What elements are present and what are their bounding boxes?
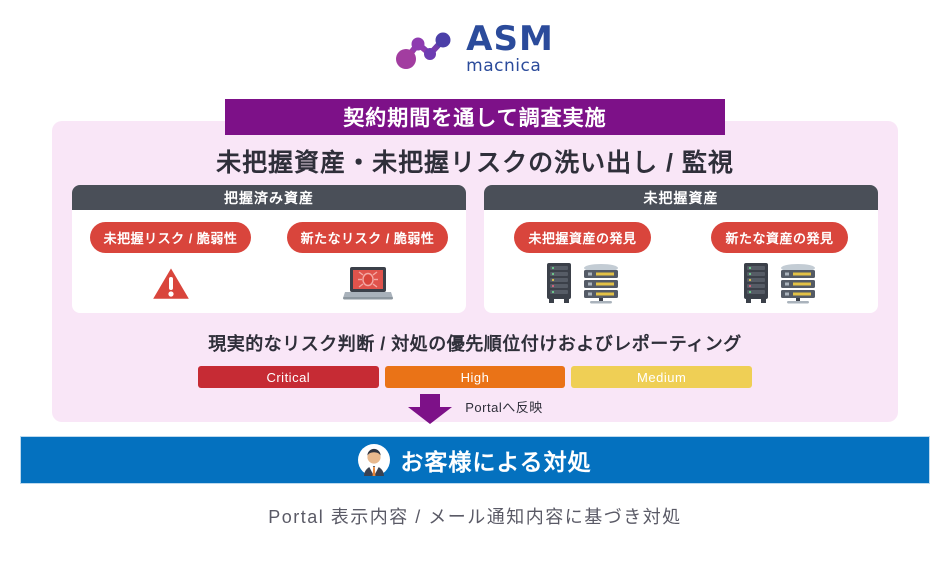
card-unknown-assets: 未把握資産 未把握資産の発見 [484, 185, 878, 313]
risk-prioritization-text: 現実的なリスク判断 / 対処の優先順位付けおよびレポーティング [0, 330, 950, 356]
card-unknown-assets-title: 未把握資産 [644, 188, 719, 208]
server-stack-icon [581, 262, 621, 304]
card-known-assets: 把握済み資産 未把握リスク / 脆弱性 新たなリスク / 脆弱性 [72, 185, 466, 313]
warning-triangle-icon-slot [149, 253, 193, 313]
asset-cards-row: 把握済み資産 未把握リスク / 脆弱性 新たなリスク / 脆弱性 [72, 185, 878, 313]
molecule-icon [396, 28, 456, 70]
pill-new-risk[interactable]: 新たなリスク / 脆弱性 [287, 222, 449, 253]
pill-unknown-asset-discovery[interactable]: 未把握資産の発見 [514, 222, 650, 253]
server-stack-icon [778, 262, 818, 304]
logo-asm-text: ASM [466, 22, 554, 56]
severity-critical-label: Critical [266, 370, 310, 385]
unknown-asset-discovery-column: 未把握資産の発見 [484, 210, 681, 313]
portal-flow-arrow-group: Portalへ反映 [0, 394, 950, 424]
arrow-down-icon [407, 394, 453, 424]
pill-new-asset-discovery[interactable]: 新たな資産の発見 [711, 222, 847, 253]
known-unknown-risk-column: 未把握リスク / 脆弱性 [72, 210, 269, 313]
severity-bars: Critical High Medium [198, 366, 752, 388]
businessman-avatar-icon [358, 444, 390, 476]
portal-reflect-note: Portalへ反映 [465, 397, 542, 416]
severity-medium-label: Medium [637, 370, 686, 385]
server-rack-icon-slot-right [742, 253, 818, 313]
server-rack-icon [742, 262, 770, 304]
server-rack-icon-slot-left [545, 253, 621, 313]
laptop-virus-icon [341, 263, 395, 303]
server-rack-icon [545, 262, 573, 304]
footer-note: Portal 表示内容 / メール通知内容に基づき対処 [0, 503, 950, 529]
severity-high: High [385, 366, 566, 388]
card-unknown-assets-body: 未把握資産の発見 [484, 210, 878, 313]
card-known-assets-title: 把握済み資産 [224, 188, 314, 208]
customer-action-bar: お客様による対処 [20, 436, 930, 484]
pill-unknown-risk[interactable]: 未把握リスク / 脆弱性 [90, 222, 252, 253]
known-new-risk-column: 新たなリスク / 脆弱性 [269, 210, 466, 313]
card-known-assets-header: 把握済み資産 [72, 185, 466, 210]
new-asset-discovery-column: 新たな資産の発見 [681, 210, 878, 313]
banner-contract-period: 契約期間を通して調査実施 [225, 99, 725, 135]
logo-macnica-text: macnica [466, 58, 541, 75]
severity-medium: Medium [571, 366, 752, 388]
severity-critical: Critical [198, 366, 379, 388]
page-headline: 未把握資産・未把握リスクの洗い出し / 監視 [0, 143, 950, 179]
card-unknown-assets-header: 未把握資産 [484, 185, 878, 210]
card-known-assets-body: 未把握リスク / 脆弱性 新たなリスク / 脆弱性 [72, 210, 466, 313]
brand-logo: ASM macnica [0, 22, 950, 75]
laptop-virus-icon-slot [341, 253, 395, 313]
customer-action-label: お客様による対処 [400, 443, 591, 477]
banner-title: 契約期間を通して調査実施 [343, 102, 606, 132]
severity-high-label: High [461, 370, 490, 385]
warning-triangle-icon [149, 263, 193, 303]
